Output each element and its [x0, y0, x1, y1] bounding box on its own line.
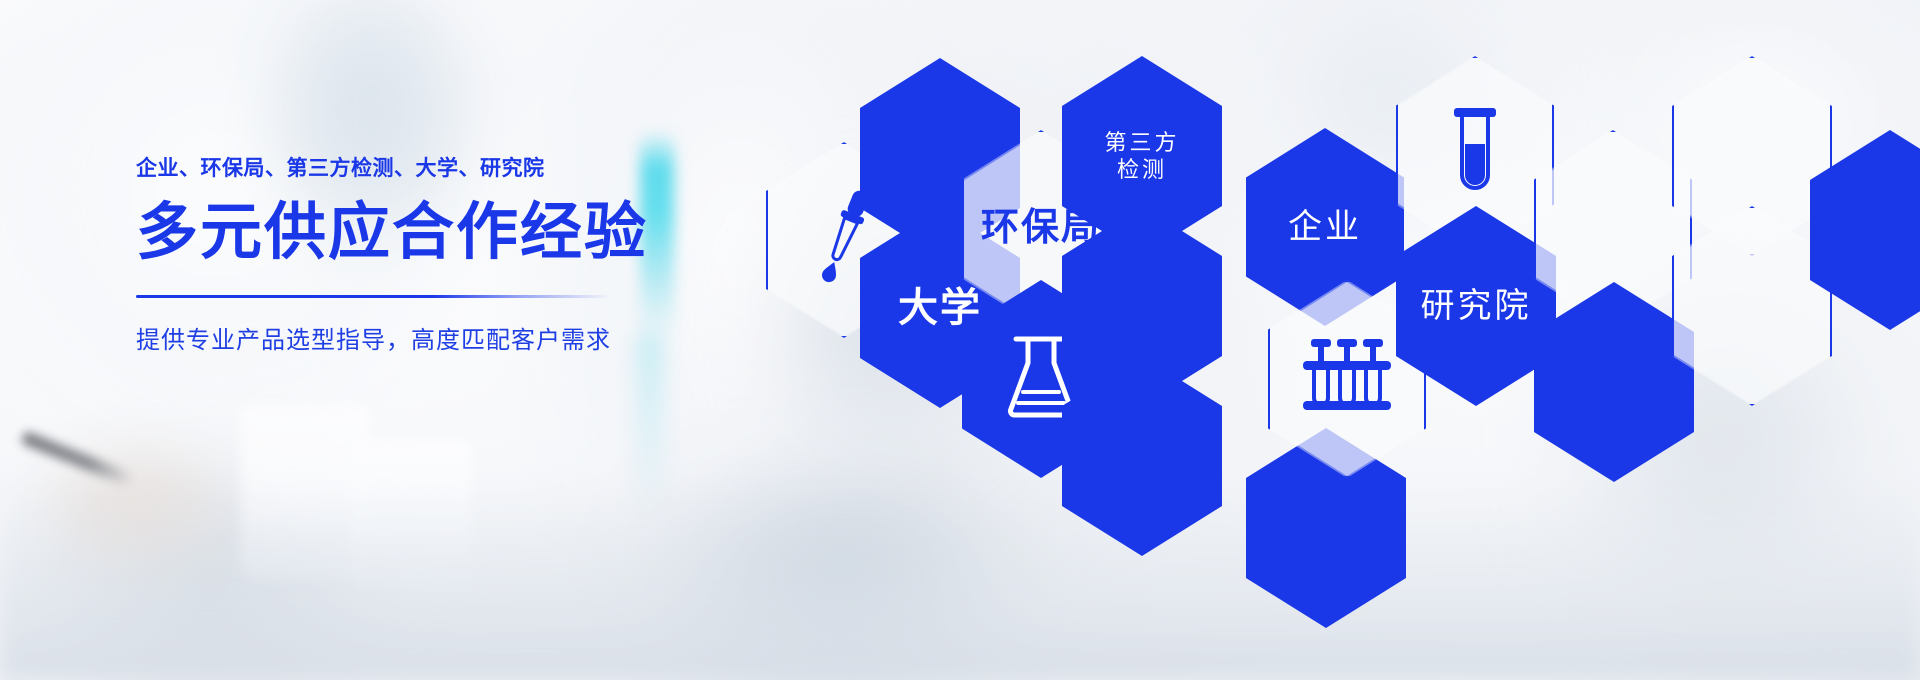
test-tube-rack-icon [1299, 335, 1395, 424]
test-tube-icon [1444, 104, 1506, 207]
hexagon-honeycomb: 大学 环保局 第三方 检测 [0, 0, 1920, 680]
hex-label-institute: 研究院 [1421, 285, 1532, 328]
hex-cell-far-outline-mid[interactable] [1672, 206, 1832, 406]
hex-cell-edge-solid[interactable] [1534, 282, 1694, 482]
promo-banner: 企业、环保局、第三方检测、大学、研究院 多元供应合作经验 提供专业产品选型指导，… [0, 0, 1920, 680]
hex-label-third-party: 第三方 检测 [1104, 129, 1179, 184]
hex-label-corporate: 企业 [1288, 206, 1362, 249]
